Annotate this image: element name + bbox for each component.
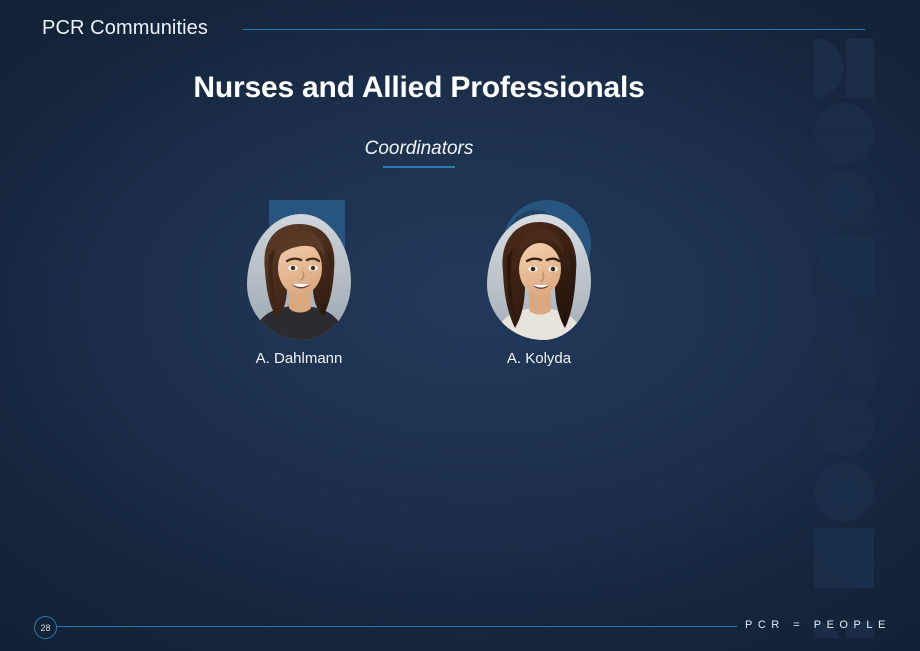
ring-hole-icon	[829, 477, 859, 507]
rectangle-icon	[846, 330, 874, 390]
list-item-label: A. Kolyda	[507, 350, 571, 367]
dome-up-icon	[814, 103, 874, 133]
avatar[interactable]	[247, 214, 351, 340]
people-list: A. Dahlmann	[0, 196, 838, 367]
brand-tagline: PCR = PEOPLE	[745, 619, 891, 631]
footer-divider	[56, 626, 737, 627]
portrait-image	[487, 214, 591, 340]
dome-down-icon	[814, 426, 874, 456]
subtitle-divider	[383, 166, 455, 168]
list-item[interactable]: A. Dahlmann	[239, 196, 359, 367]
page-number-badge: 28	[34, 616, 57, 639]
header-divider	[243, 29, 865, 30]
dome-up-icon	[814, 395, 874, 425]
slide-canvas: PCR Communities Nurses and Allied Profes…	[0, 0, 920, 651]
page-title: Nurses and Allied Professionals	[0, 71, 838, 105]
rectangle-icon	[846, 38, 874, 98]
breadcrumb: PCR Communities	[42, 17, 208, 40]
page-subtitle: Coordinators	[0, 138, 838, 160]
avatar-photo	[247, 214, 351, 340]
portrait-image	[247, 214, 351, 340]
avatar[interactable]	[487, 214, 591, 340]
watermark-tile	[808, 330, 882, 622]
avatar-photo	[487, 214, 591, 340]
list-item[interactable]: A. Kolyda	[479, 196, 599, 367]
list-item-label: A. Dahlmann	[256, 350, 343, 367]
